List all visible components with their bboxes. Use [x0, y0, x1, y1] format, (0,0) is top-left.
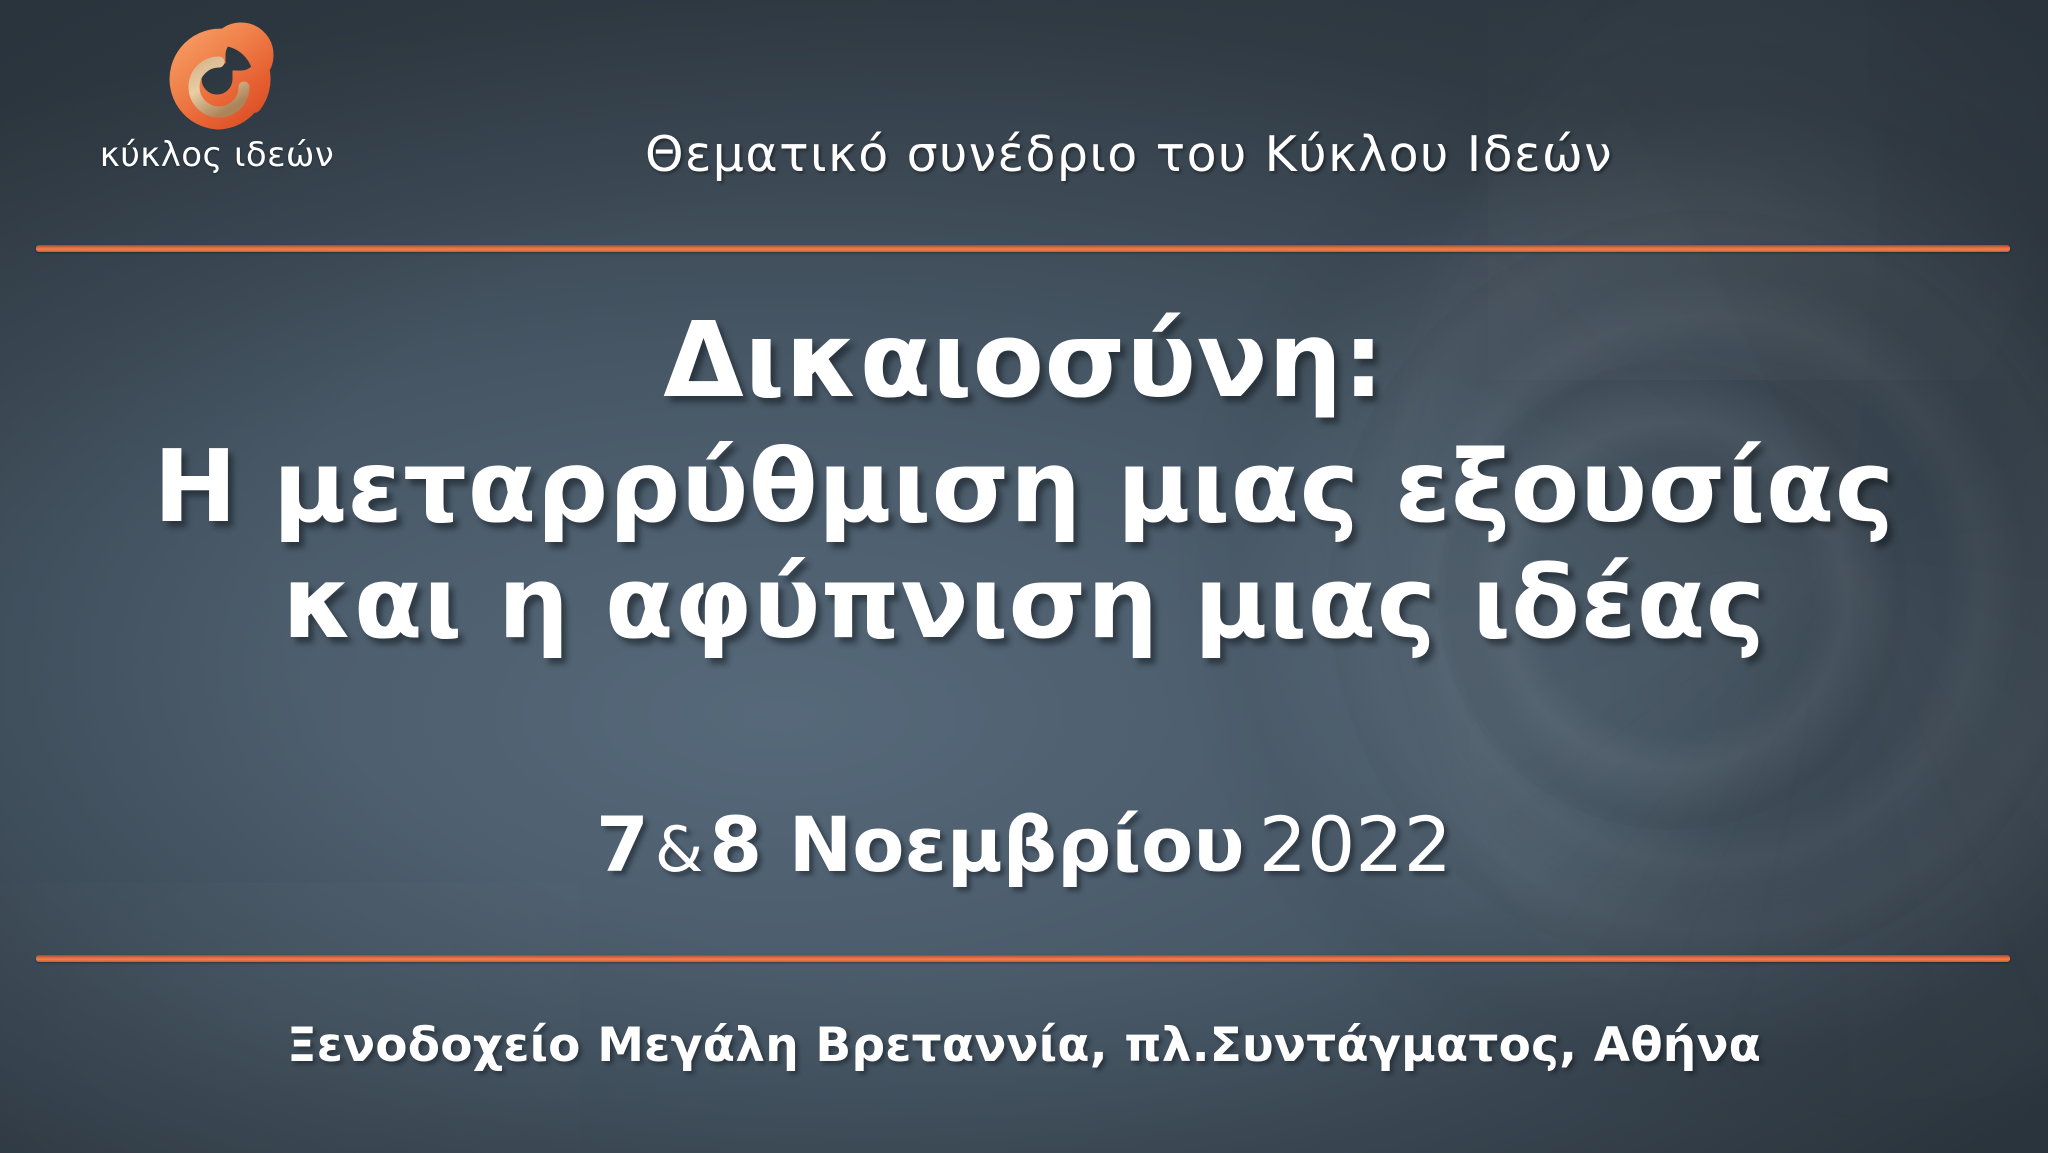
- brand-logo-text: κύκλος ιδεών: [92, 138, 342, 172]
- spiral-circle-icon: [157, 18, 277, 136]
- bottom-divider: [36, 955, 2010, 962]
- brand-logo: κύκλος ιδεών: [92, 18, 342, 172]
- event-date-day-first: 7: [596, 800, 649, 889]
- slide-content: κύκλος ιδεών Θεματικό συνέδριο του Κύκλο…: [0, 0, 2048, 1153]
- event-date-separator: &: [649, 813, 709, 886]
- title-line-3: και η αφύπνιση μιας ιδέας: [0, 545, 2048, 661]
- header-subtitle: Θεματικό συνέδριο του Κύκλου Ιδεών: [330, 126, 1928, 183]
- top-divider: [36, 245, 2010, 252]
- event-date-year: 2022: [1245, 800, 1452, 889]
- event-date-month: [762, 800, 788, 889]
- main-title-block: Δικαιοσύνη: Η μεταρρύθμιση μιας εξουσίας…: [0, 300, 2048, 661]
- event-date-month-name: Νοεμβρίου: [789, 800, 1245, 889]
- event-date: 7&8 Νοεμβρίου2022: [0, 800, 2048, 889]
- conference-title-slide: κύκλος ιδεών Θεματικό συνέδριο του Κύκλο…: [0, 0, 2048, 1153]
- title-line-2: Η μεταρρύθμιση μιας εξουσίας: [0, 429, 2048, 545]
- venue-text: Ξενοδοχείο Μεγάλη Βρεταννία, πλ.Συντάγμα…: [0, 1018, 2048, 1073]
- event-date-day-second: 8: [709, 800, 762, 889]
- title-line-1: Δικαιοσύνη:: [0, 300, 2048, 421]
